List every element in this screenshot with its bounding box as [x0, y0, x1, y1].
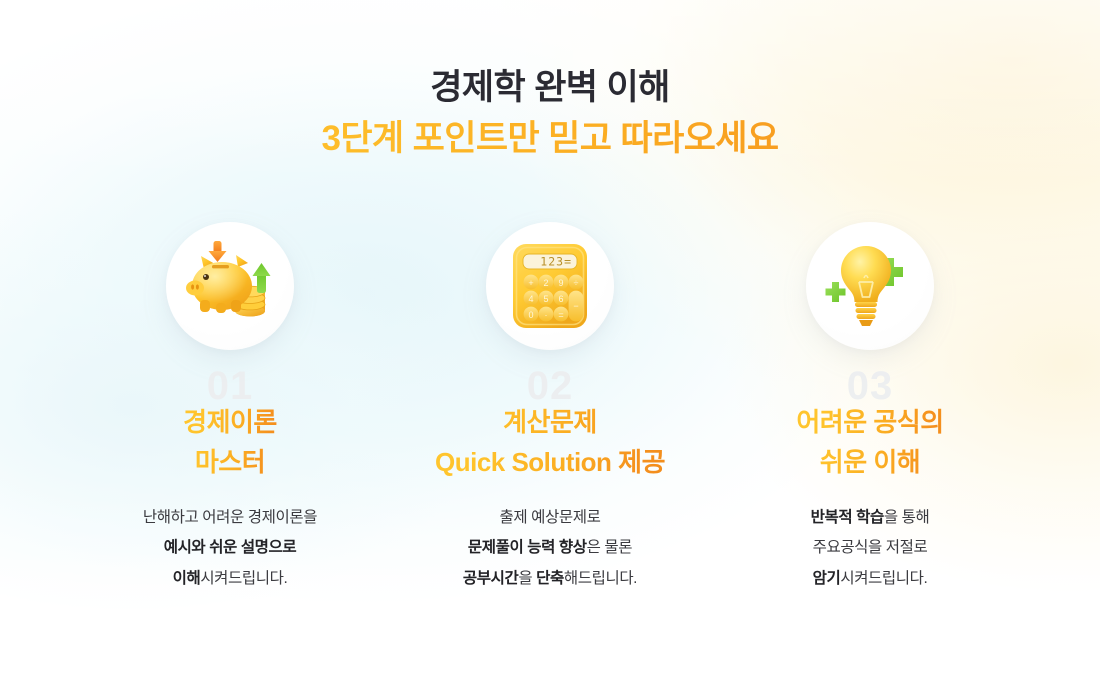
- emphasis-text: 단축: [536, 570, 564, 587]
- emphasis-text: 문제풀이 능력 향상: [468, 539, 587, 556]
- plain-text: 주요공식을 저절로: [813, 539, 928, 556]
- card-title-line: 경제이론: [183, 402, 277, 442]
- feature-card-1: 01 경제이론 마스터 난해하고 어려운 경제이론을예시와 쉬운 설명으로이해시…: [70, 222, 390, 595]
- feature-card-list: 01 경제이론 마스터 난해하고 어려운 경제이론을예시와 쉬운 설명으로이해시…: [70, 222, 1030, 595]
- svg-text:2: 2: [543, 278, 548, 288]
- card-title-line: 계산문제: [435, 402, 665, 442]
- bulb-glyph: [841, 246, 891, 326]
- plain-text: 시켜드립니다.: [840, 570, 927, 587]
- headline-line-2: 3단계 포인트만 믿고 따라오세요: [0, 117, 1100, 162]
- plain-text: 은 물론: [587, 539, 633, 556]
- card-number-watermark: 02: [527, 366, 574, 386]
- card-title: 어려운 공식의 쉬운 이해: [796, 402, 943, 483]
- feature-icon-2: 123= + 2 9 ÷ 4 5 6 0 · =: [486, 222, 614, 350]
- card-description-line: 반복적 학습을 통해: [811, 503, 930, 534]
- card-title: 경제이론 마스터: [183, 402, 277, 483]
- card-description-line: 난해하고 어려운 경제이론을: [143, 503, 317, 534]
- svg-text:0: 0: [528, 310, 533, 320]
- card-title-line: Quick Solution 제공: [435, 442, 665, 482]
- arrow-down-glyph: [209, 241, 227, 262]
- piggy-bank-icon: [178, 234, 282, 338]
- plain-text: 난해하고 어려운 경제이론을: [143, 509, 317, 526]
- svg-text:−: −: [573, 301, 578, 311]
- emphasis-text: 반복적 학습: [811, 509, 884, 526]
- card-title: 계산문제 Quick Solution 제공: [435, 402, 665, 483]
- headline-line-1: 경제학 완벽 이해: [0, 66, 1100, 111]
- card-description-line: 공부시간을 단축해드립니다.: [463, 564, 637, 595]
- feature-icon-3: [806, 222, 934, 350]
- svg-text:=: =: [558, 310, 563, 320]
- emphasis-text: 암기: [813, 570, 841, 587]
- plain-text: 시켜드립니다.: [200, 570, 287, 587]
- plus-icon-small: [826, 282, 846, 302]
- card-number-watermark: 03: [847, 366, 894, 386]
- card-description: 반복적 학습을 통해주요공식을 저절로암기시켜드립니다.: [811, 503, 930, 595]
- card-description-line: 이해시켜드립니다.: [143, 564, 317, 595]
- svg-text:5: 5: [543, 294, 548, 304]
- card-title-line: 쉬운 이해: [796, 442, 943, 482]
- card-number-watermark: 01: [207, 366, 254, 386]
- page-title: 경제학 완벽 이해 3단계 포인트만 믿고 따라오세요: [0, 66, 1100, 162]
- svg-text:4: 4: [528, 294, 533, 304]
- feature-card-3: 03 어려운 공식의 쉬운 이해 반복적 학습을 통해주요공식을 저절로암기시켜…: [710, 222, 1030, 595]
- feature-card-2: 123= + 2 9 ÷ 4 5 6 0 · =: [390, 222, 710, 595]
- calculator-icon: 123= + 2 9 ÷ 4 5 6 0 · =: [498, 234, 602, 338]
- svg-text:·: ·: [545, 310, 548, 320]
- emphasis-text: 공부시간: [463, 570, 518, 587]
- svg-text:9: 9: [558, 278, 563, 288]
- lightbulb-icon: [818, 234, 922, 338]
- calculator-display-text: 123=: [540, 255, 572, 269]
- card-title-line: 어려운 공식의: [796, 402, 943, 442]
- svg-text:÷: ÷: [574, 278, 579, 288]
- feature-icon-1: [166, 222, 294, 350]
- emphasis-text: 예시와 쉬운 설명으로: [164, 539, 297, 556]
- card-description-line: 주요공식을 저절로: [811, 533, 930, 564]
- plain-text: 을 통해: [884, 509, 930, 526]
- card-description: 난해하고 어려운 경제이론을예시와 쉬운 설명으로이해시켜드립니다.: [143, 503, 317, 595]
- plain-text: 해드립니다.: [564, 570, 637, 587]
- promo-banner: 경제학 완벽 이해 3단계 포인트만 믿고 따라오세요: [0, 0, 1100, 700]
- svg-text:6: 6: [558, 294, 563, 304]
- card-description-line: 문제풀이 능력 향상은 물론: [463, 533, 637, 564]
- card-title-line: 마스터: [183, 442, 277, 482]
- card-description-line: 암기시켜드립니다.: [811, 564, 930, 595]
- plain-text: 출제 예상문제로: [500, 509, 601, 526]
- emphasis-text: 이해: [173, 570, 201, 587]
- card-description: 출제 예상문제로문제풀이 능력 향상은 물론공부시간을 단축해드립니다.: [463, 503, 637, 595]
- plain-text: 을: [518, 570, 536, 587]
- svg-text:+: +: [528, 278, 533, 288]
- card-description-line: 예시와 쉬운 설명으로: [143, 533, 317, 564]
- card-description-line: 출제 예상문제로: [463, 503, 637, 534]
